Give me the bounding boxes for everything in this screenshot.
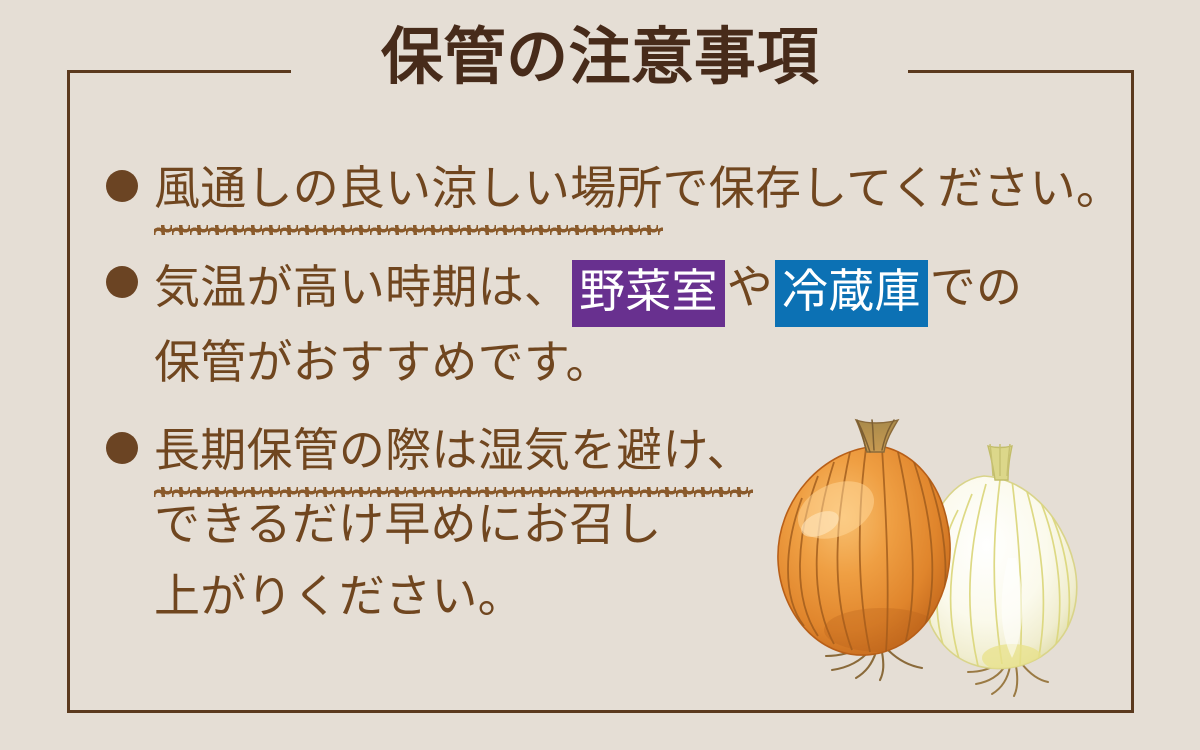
list-item-body: 風通しの良い涼しい場所で保存してください。 <box>104 152 1114 226</box>
notice-line: 保管がおすすめです。 <box>154 326 1114 398</box>
notice-line: 風通しの良い涼しい場所で保存してください。 <box>154 152 1114 226</box>
list-item: 気温が高い時期は、野菜室や冷蔵庫での 保管がおすすめです。 <box>104 248 1114 398</box>
notice-text: 上がりください。 <box>154 570 524 622</box>
wavy-emphasis-text: 風通しの良い涼しい場所 <box>154 152 663 226</box>
wavy-emphasis-text: 長期保管の際は湿気を避け、 <box>154 414 753 488</box>
onion-illustration-svg <box>762 418 1092 708</box>
frame-left-segment <box>67 70 70 713</box>
bullet-marker-icon <box>106 266 138 298</box>
notice-line: 気温が高い時期は、野菜室や冷蔵庫での <box>154 248 1114 326</box>
notice-text-post: での <box>930 261 1022 313</box>
highlight-chip-refrigerator: 冷蔵庫 <box>775 260 928 327</box>
notice-text-mid: や <box>727 261 773 313</box>
notice-text: できるだけ早めにお召し <box>154 498 662 550</box>
notice-text: で保存してください。 <box>663 162 1123 214</box>
frame-right-segment <box>1131 70 1134 713</box>
list-item: 風通しの良い涼しい場所で保存してください。 <box>104 152 1114 226</box>
notice-card: 保管の注意事項 風通しの良い涼しい場所で保存してください。 気温が高い時期は、野… <box>0 0 1200 750</box>
list-item-body: 気温が高い時期は、野菜室や冷蔵庫での 保管がおすすめです。 <box>104 248 1114 398</box>
bullet-marker-icon <box>106 170 138 202</box>
notice-text-pre: 気温が高い時期は、 <box>154 261 570 313</box>
bullet-marker-icon <box>106 432 138 464</box>
notice-text: 保管がおすすめです。 <box>154 336 612 388</box>
frame-bottom-segment <box>67 710 1134 713</box>
onion-illustration <box>762 418 1092 708</box>
page-title: 保管の注意事項 <box>0 26 1200 89</box>
highlight-chip-vegetable-room: 野菜室 <box>572 260 725 327</box>
